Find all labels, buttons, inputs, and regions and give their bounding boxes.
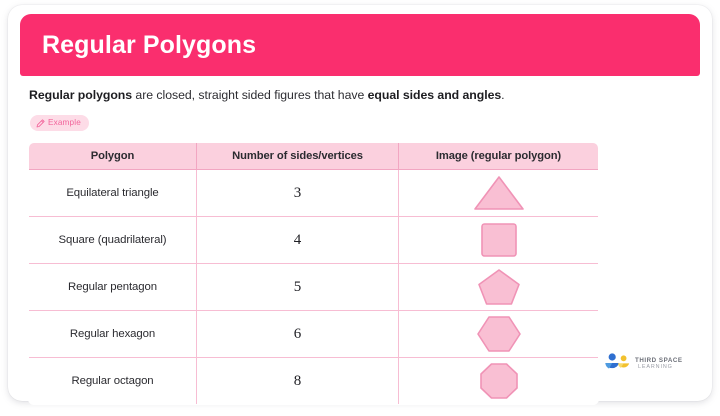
cell-shape-image: [399, 358, 599, 405]
table-row: Regular octagon 8: [29, 358, 599, 405]
cell-polygon-name: Equilateral triangle: [29, 170, 197, 217]
cell-shape-image: [399, 264, 599, 311]
logo-wordmark: THIRD SPACE LEARNING: [635, 357, 683, 371]
definition-emphasis: equal sides and angles: [368, 88, 502, 102]
logo-mark-icon: [604, 352, 630, 376]
slide-canvas: Regular Polygons Regular polygons are cl…: [0, 0, 720, 416]
cell-shape-image: [399, 170, 599, 217]
page-title: Regular Polygons: [20, 33, 256, 58]
definition-term: Regular polygons: [29, 88, 132, 102]
cell-shape-image: [399, 311, 599, 358]
cell-polygon-name: Square (quadrilateral): [29, 217, 197, 264]
title-banner: Regular Polygons: [20, 14, 700, 76]
third-space-learning-logo: THIRD SPACE LEARNING: [604, 352, 683, 376]
cell-side-count: 6: [197, 311, 399, 358]
cell-side-count: 3: [197, 170, 399, 217]
cell-side-count: 5: [197, 264, 399, 311]
hexagon-shape: [400, 315, 597, 353]
logo-line-secondary: LEARNING: [635, 364, 683, 370]
definition-period: .: [501, 88, 504, 102]
column-header-polygon: Polygon: [29, 143, 197, 170]
polygons-table: Polygon Number of sides/vertices Image (…: [28, 142, 599, 405]
table-row: Regular hexagon 6: [29, 311, 599, 358]
definition-middle: are closed, straight sided figures that …: [132, 88, 368, 102]
column-header-sides: Number of sides/vertices: [197, 143, 399, 170]
square-shape: [400, 222, 597, 258]
table-row: Square (quadrilateral) 4: [29, 217, 599, 264]
definition-text: Regular polygons are closed, straight si…: [29, 87, 679, 104]
cell-shape-image: [399, 217, 599, 264]
table-header-row: Polygon Number of sides/vertices Image (…: [29, 143, 599, 170]
example-badge[interactable]: Example: [30, 115, 89, 131]
table-row: Regular pentagon 5: [29, 264, 599, 311]
logo-line-primary: THIRD SPACE: [635, 357, 683, 364]
cell-polygon-name: Regular octagon: [29, 358, 197, 405]
cell-side-count: 4: [197, 217, 399, 264]
example-badge-label: Example: [48, 119, 81, 127]
octagon-shape: [400, 362, 597, 400]
pentagon-shape: [400, 268, 597, 306]
triangle-shape: [400, 175, 597, 211]
cell-polygon-name: Regular hexagon: [29, 311, 197, 358]
cell-polygon-name: Regular pentagon: [29, 264, 197, 311]
cell-side-count: 8: [197, 358, 399, 405]
table-row: Equilateral triangle 3: [29, 170, 599, 217]
pencil-icon: [36, 119, 45, 128]
column-header-image: Image (regular polygon): [399, 143, 599, 170]
